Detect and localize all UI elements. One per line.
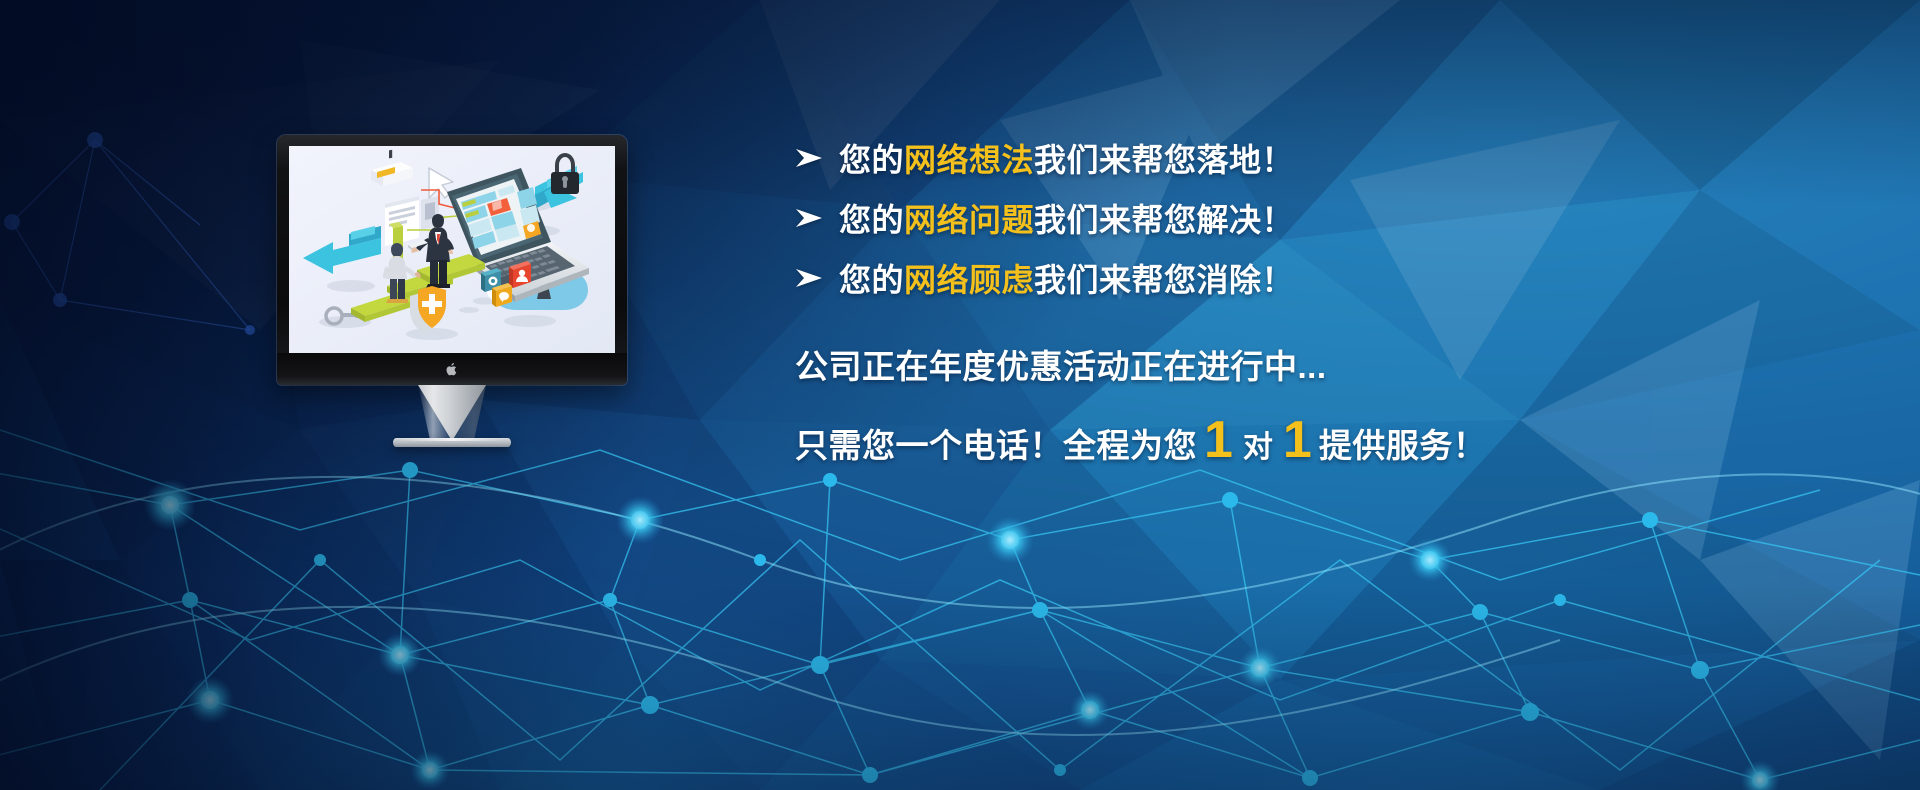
banner-copy-block: 您的网络想法我们来帮您落地！ 您的网络问题我们来帮您解决！ 您的网络顾虑我们来帮… — [795, 128, 1555, 467]
bullet-tail-1: 我们来帮您落地！ — [1034, 142, 1294, 178]
bullet-line-2: 您的网络问题我们来帮您解决！ — [795, 188, 1555, 248]
bullet-lead-3: 您的 — [839, 262, 904, 298]
bullet-line-3: 您的网络顾虑我们来帮您消除！ — [795, 248, 1555, 308]
cta-line: 只需您一个电话！全程为您 1 对 1 提供服务！ — [795, 414, 1555, 467]
isometric-network-illustration — [289, 146, 615, 353]
bullet-lead-2: 您的 — [839, 202, 904, 238]
apple-display-monitor — [277, 135, 627, 445]
cta-prefix: 只需您一个电话！全程为您 — [795, 419, 1197, 467]
arrow-bullet-icon — [795, 208, 839, 228]
bullet-tail-2: 我们来帮您解决！ — [1034, 202, 1294, 238]
arrow-bullet-icon — [795, 148, 839, 168]
monitor-frame — [277, 135, 627, 385]
cta-suffix: 提供服务！ — [1319, 419, 1487, 467]
monitor-screen — [289, 146, 615, 353]
promo-text: 公司正在年度优惠活动正在进行中... — [795, 348, 1327, 385]
bullet-highlight-1: 网络想法 — [904, 142, 1034, 178]
arrow-bullet-icon — [795, 268, 839, 288]
monitor-stand-base — [393, 438, 511, 447]
cta-number-second: 1 — [1276, 414, 1319, 466]
bullet-highlight-3: 网络顾虑 — [904, 262, 1034, 298]
bullet-tail-3: 我们来帮您消除！ — [1034, 262, 1294, 298]
monitor-chin — [277, 353, 627, 385]
bullet-lead-1: 您的 — [839, 142, 904, 178]
bullet-text-2: 您的网络问题我们来帮您解决！ — [839, 195, 1294, 241]
bullet-text-3: 您的网络顾虑我们来帮您消除！ — [839, 255, 1294, 301]
bullet-highlight-2: 网络问题 — [904, 202, 1034, 238]
cta-number-first: 1 — [1197, 414, 1240, 466]
cta-middle: 对 — [1240, 422, 1276, 466]
promo-banner: 您的网络想法我们来帮您落地！ 您的网络问题我们来帮您解决！ 您的网络顾虑我们来帮… — [0, 0, 1920, 790]
bullet-line-1: 您的网络想法我们来帮您落地！ — [795, 128, 1555, 188]
bullet-text-1: 您的网络想法我们来帮您落地！ — [839, 135, 1294, 181]
promo-line: 公司正在年度优惠活动正在进行中... — [795, 340, 1555, 388]
apple-logo-icon — [447, 363, 458, 376]
